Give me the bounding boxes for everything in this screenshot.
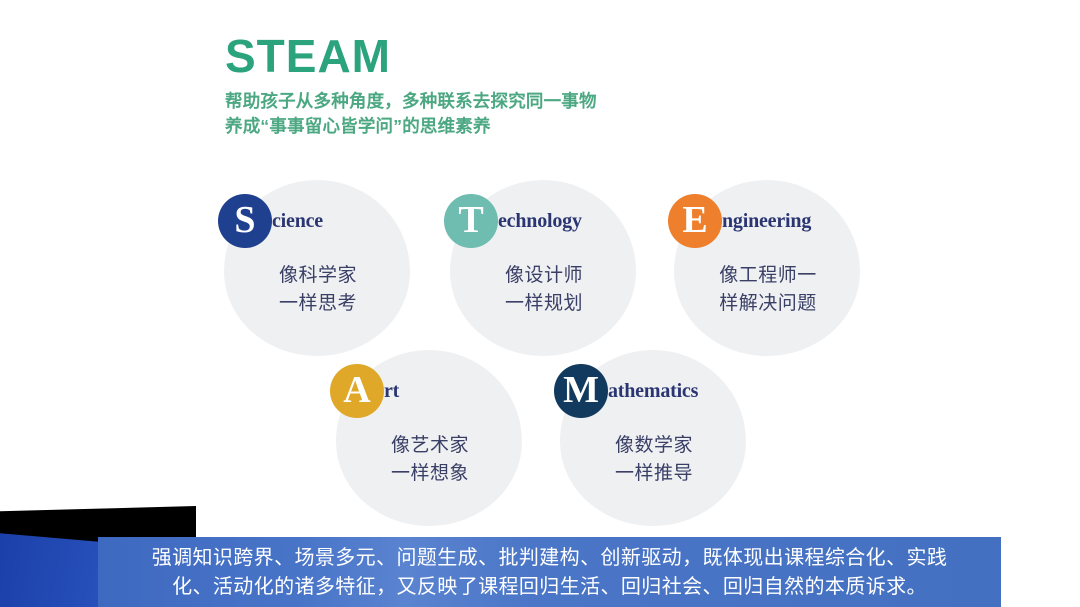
pillar-word-science: cience <box>272 210 323 233</box>
pillar-description-engineering: 像工程师一 样解决问题 <box>668 262 868 317</box>
desc-line-2: 一样推导 <box>554 460 754 488</box>
desc-line-1: 像艺术家 <box>330 432 530 460</box>
desc-line-1: 像工程师一 <box>668 262 868 290</box>
pillar-word-art: rt <box>384 380 399 403</box>
badge-letter-s: S <box>218 194 272 248</box>
desc-line-2: 一样思考 <box>218 290 418 318</box>
pillar-description-technology: 像设计师 一样规划 <box>444 262 644 317</box>
caption-line-2: 化、活动化的诸多特征，又反映了课程回归生活、回归社会、回归自然的本质诉求。 <box>98 573 1001 602</box>
desc-line-1: 像数学家 <box>554 432 754 460</box>
pillar-technology[interactable]: T echnology 像设计师 一样规划 <box>444 180 644 360</box>
badge-letter-e: E <box>668 194 722 248</box>
heading-block: STEAM 帮助孩子从多种角度，多种联系去探究同一事物 养成“事事留心皆学问”的… <box>225 33 597 139</box>
page-subtitle: 帮助孩子从多种角度，多种联系去探究同一事物 养成“事事留心皆学问”的思维素养 <box>225 89 597 139</box>
desc-line-2: 样解决问题 <box>668 290 868 318</box>
pillar-art[interactable]: A rt 像艺术家 一样想象 <box>330 350 530 530</box>
pillar-word-technology: echnology <box>498 210 582 233</box>
desc-line-1: 像设计师 <box>444 262 644 290</box>
pillar-word-mathematics: athematics <box>608 380 698 403</box>
pillar-science[interactable]: S cience 像科学家 一样思考 <box>218 180 418 360</box>
subtitle-line-2: 养成“事事留心皆学问”的思维素养 <box>225 114 597 139</box>
badge-letter-a: A <box>330 364 384 418</box>
pillar-description-mathematics: 像数学家 一样推导 <box>554 432 754 487</box>
caption-line-1: 强调知识跨界、场景多元、问题生成、批判建构、创新驱动，既体现出课程综合化、实践 <box>98 544 1001 573</box>
subtitle-line-1: 帮助孩子从多种角度，多种联系去探究同一事物 <box>225 89 597 114</box>
pillar-description-science: 像科学家 一样思考 <box>218 262 418 317</box>
pillar-description-art: 像艺术家 一样想象 <box>330 432 530 487</box>
caption-bar: 强调知识跨界、场景多元、问题生成、批判建构、创新驱动，既体现出课程综合化、实践 … <box>98 537 1001 607</box>
badge-letter-m: M <box>554 364 608 418</box>
caption-text: 强调知识跨界、场景多元、问题生成、批判建构、创新驱动，既体现出课程综合化、实践 … <box>98 544 1001 602</box>
page-title: STEAM <box>225 33 597 79</box>
pillar-engineering[interactable]: E ngineering 像工程师一 样解决问题 <box>668 180 868 360</box>
pillar-word-engineering: ngineering <box>722 210 811 233</box>
desc-line-1: 像科学家 <box>218 262 418 290</box>
desc-line-2: 一样想象 <box>330 460 530 488</box>
desc-line-2: 一样规划 <box>444 290 644 318</box>
badge-letter-t: T <box>444 194 498 248</box>
slide-canvas: STEAM 帮助孩子从多种角度，多种联系去探究同一事物 养成“事事留心皆学问”的… <box>0 0 1080 607</box>
pillar-mathematics[interactable]: M athematics 像数学家 一样推导 <box>554 350 754 530</box>
